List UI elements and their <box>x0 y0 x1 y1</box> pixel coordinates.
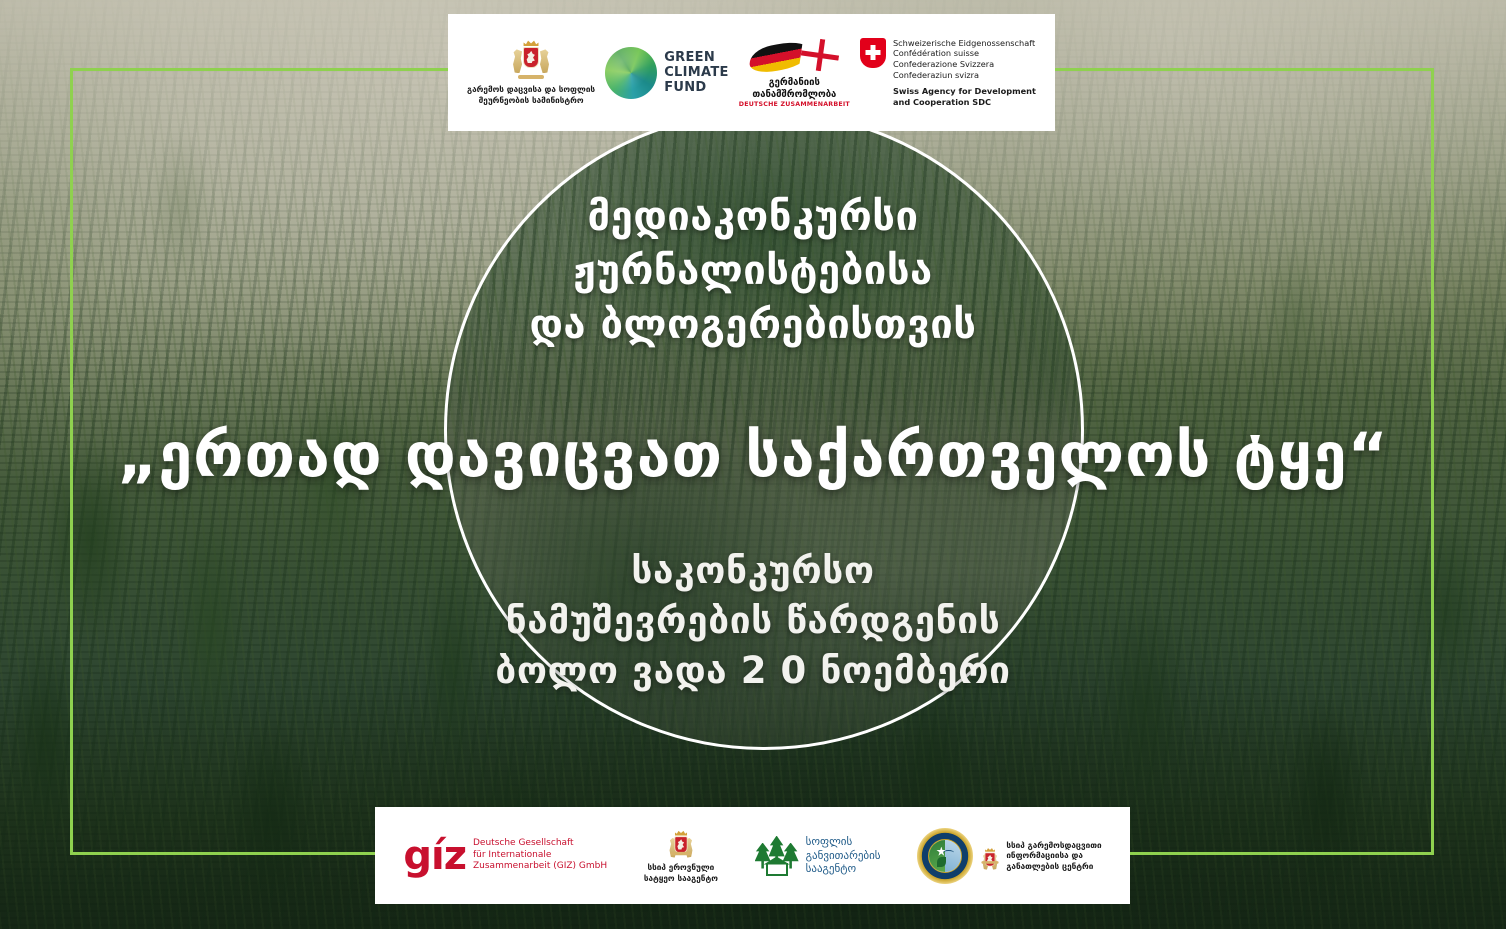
logo-sub-label: DEUTSCHE ZUSAMMENARBEIT <box>739 101 850 108</box>
logo-giz: gíz Deutsche Gesellschaft für Internatio… <box>403 836 607 876</box>
logo-environmental-information-center: სსიპ გარემოსდაცვითი ინფორმაციისა და განა… <box>917 828 1101 884</box>
logo-label-line: and Cooperation SDC <box>893 97 1036 108</box>
forest-trees-icon <box>755 836 799 876</box>
logo-label-line: FUND <box>664 80 729 95</box>
georgia-coat-of-arms-icon <box>984 847 997 864</box>
logo-label-line: განათლების ცენტრი <box>1006 861 1101 872</box>
logo-label-line: სააგენტო <box>806 862 881 876</box>
circle-white-ring <box>444 110 1084 750</box>
logo-label-line: GREEN <box>664 50 729 65</box>
logo-label-line: ინფორმაციისა და <box>1006 850 1101 861</box>
logo-label-line: განვითარების <box>806 849 881 863</box>
logo-rural-development-agency: სოფლის განვითარების სააგენტო <box>755 835 881 876</box>
german-georgian-flag-icon <box>749 37 839 83</box>
logo-national-forestry-agency: სსიპ ეროვნული სატყეო სააგენტო <box>644 827 718 883</box>
logo-label-line: Confederazione Svizzera <box>893 59 1036 70</box>
logo-german-cooperation: გერმანიის თანამშრომლობა DEUTSCHE ZUSAMME… <box>739 37 850 108</box>
logo-label-line: Deutsche Gesellschaft <box>473 838 607 850</box>
bottom-logo-banner: gíz Deutsche Gesellschaft für Internatio… <box>375 807 1130 904</box>
logo-ministry-of-environment: გარემოს დაცვისა და სოფლის მეურნეობის სამ… <box>467 39 595 105</box>
logo-label-line: Confederaziun svizra <box>893 70 1036 81</box>
logo-label-line: სატყეო სააგენტო <box>644 873 718 884</box>
georgia-coat-of-arms-icon <box>514 39 548 79</box>
logo-label-line: Schweizerische Eidgenossenschaft <box>893 38 1036 49</box>
logo-green-climate-fund: GREEN CLIMATE FUND <box>605 47 729 99</box>
poster-root: გარემოს დაცვისა და სოფლის მეურნეობის სამ… <box>0 0 1506 929</box>
logo-label-line: CLIMATE <box>664 65 729 80</box>
center-circle-overlay <box>444 110 1084 750</box>
logo-label-line: Zusammenarbeit (GIZ) GmbH <box>473 861 607 873</box>
circular-seal-icon <box>917 828 973 884</box>
logo-label-line: für Internationale <box>473 850 607 862</box>
top-logo-banner: გარემოს დაცვისა და სოფლის მეურნეობის სამ… <box>448 14 1055 131</box>
logo-label-line: Swiss Agency for Development <box>893 86 1036 97</box>
logo-label-line: გარემოს დაცვისა და სოფლის <box>467 84 595 95</box>
logo-label-line: თანამშრომლობა <box>739 89 850 101</box>
logo-label-line: Confédération suisse <box>893 48 1036 59</box>
gcf-globe-icon <box>605 47 657 99</box>
logo-label-line: მეურნეობის სამინისტრო <box>467 95 595 106</box>
logo-label-line: სოფლის <box>806 835 881 849</box>
logo-swiss-sdc: Schweizerische Eidgenossenschaft Confédé… <box>860 38 1036 108</box>
giz-wordmark-icon: gíz <box>403 836 466 876</box>
logo-label-line: სსიპ ეროვნული <box>644 862 718 873</box>
swiss-cross-icon <box>860 38 886 68</box>
georgia-coat-of-arms-icon <box>670 830 691 855</box>
logo-label-line: სსიპ გარემოსდაცვითი <box>1006 840 1101 851</box>
